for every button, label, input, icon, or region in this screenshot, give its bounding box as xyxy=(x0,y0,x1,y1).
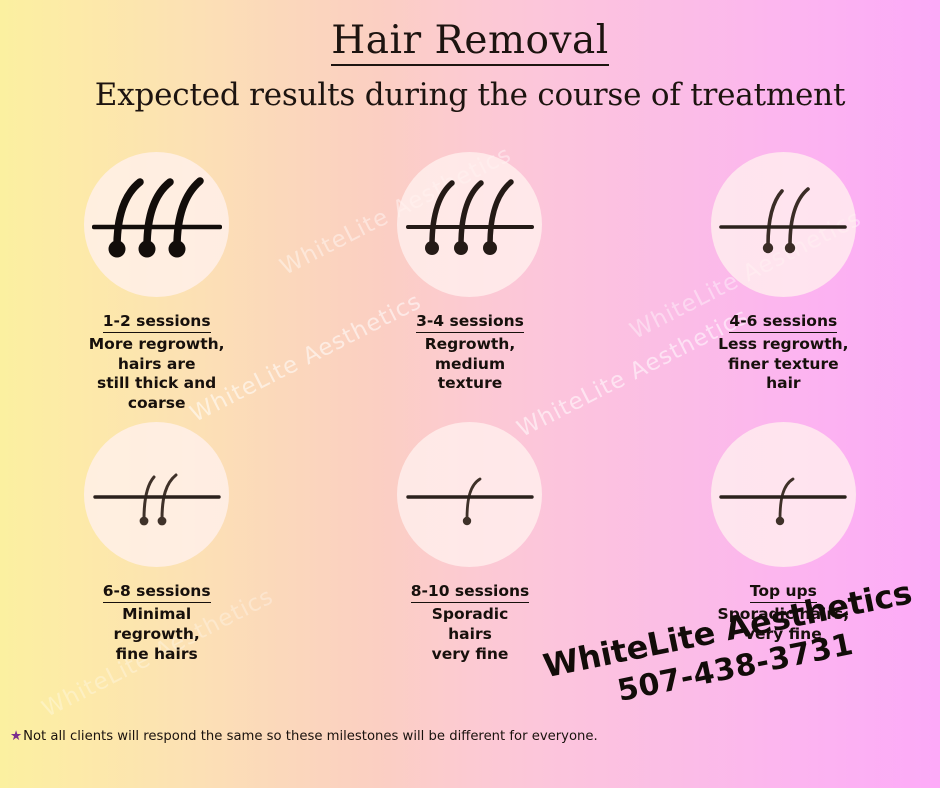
infographic-poster: WhiteLite Aesthetics WhiteLite Aesthetic… xyxy=(0,0,940,788)
step-heading: 8-10 sessions xyxy=(411,582,530,603)
page-subtitle: Expected results during the course of tr… xyxy=(0,66,940,113)
step-card-4-6-sessions: 4-6 sessions Less regrowth, finer textur… xyxy=(627,152,940,414)
step-caption: 6-8 sessions Minimal regrowth, fine hair… xyxy=(103,581,211,664)
three-thick-hairs-icon xyxy=(84,152,229,297)
step-caption: 3-4 sessions Regrowth, medium texture xyxy=(416,311,524,394)
three-medium-hairs-icon xyxy=(397,152,542,297)
steps-grid: 1-2 sessions More regrowth, hairs are st… xyxy=(0,152,940,664)
two-short-fine-hairs-icon xyxy=(84,422,229,567)
step-body: Less regrowth, finer texture hair xyxy=(718,335,848,394)
step-card-8-10-sessions: 8-10 sessions Sporadic hairs very fine xyxy=(313,422,626,664)
poster-header: Hair Removal Expected results during the… xyxy=(0,0,940,113)
step-body: Sporadic hairs very fine xyxy=(411,605,530,664)
step-heading: 6-8 sessions xyxy=(103,582,211,603)
page-title: Hair Removal xyxy=(331,0,608,66)
step-heading: 1-2 sessions xyxy=(103,312,211,333)
two-fine-hairs-icon xyxy=(711,152,856,297)
step-caption: 1-2 sessions More regrowth, hairs are st… xyxy=(89,311,225,414)
step-card-6-8-sessions: 6-8 sessions Minimal regrowth, fine hair… xyxy=(0,422,313,664)
step-body: More regrowth, hairs are still thick and… xyxy=(89,335,225,414)
step-body: Regrowth, medium texture xyxy=(416,335,524,394)
step-heading: 3-4 sessions xyxy=(416,312,524,333)
steps-row-top: 1-2 sessions More regrowth, hairs are st… xyxy=(0,152,940,414)
step-caption: 8-10 sessions Sporadic hairs very fine xyxy=(411,581,530,664)
single-tiny-hair-icon xyxy=(711,422,856,567)
single-tiny-hair-icon xyxy=(397,422,542,567)
step-body: Minimal regrowth, fine hairs xyxy=(103,605,211,664)
step-caption: 4-6 sessions Less regrowth, finer textur… xyxy=(718,311,848,394)
step-card-3-4-sessions: 3-4 sessions Regrowth, medium texture xyxy=(313,152,626,414)
step-heading: 4-6 sessions xyxy=(729,312,837,333)
step-card-1-2-sessions: 1-2 sessions More regrowth, hairs are st… xyxy=(0,152,313,414)
star-icon: ★ xyxy=(10,730,22,744)
disclaimer-text: Not all clients will respond the same so… xyxy=(23,729,598,744)
disclaimer-note: ★ Not all clients will respond the same … xyxy=(10,729,598,744)
